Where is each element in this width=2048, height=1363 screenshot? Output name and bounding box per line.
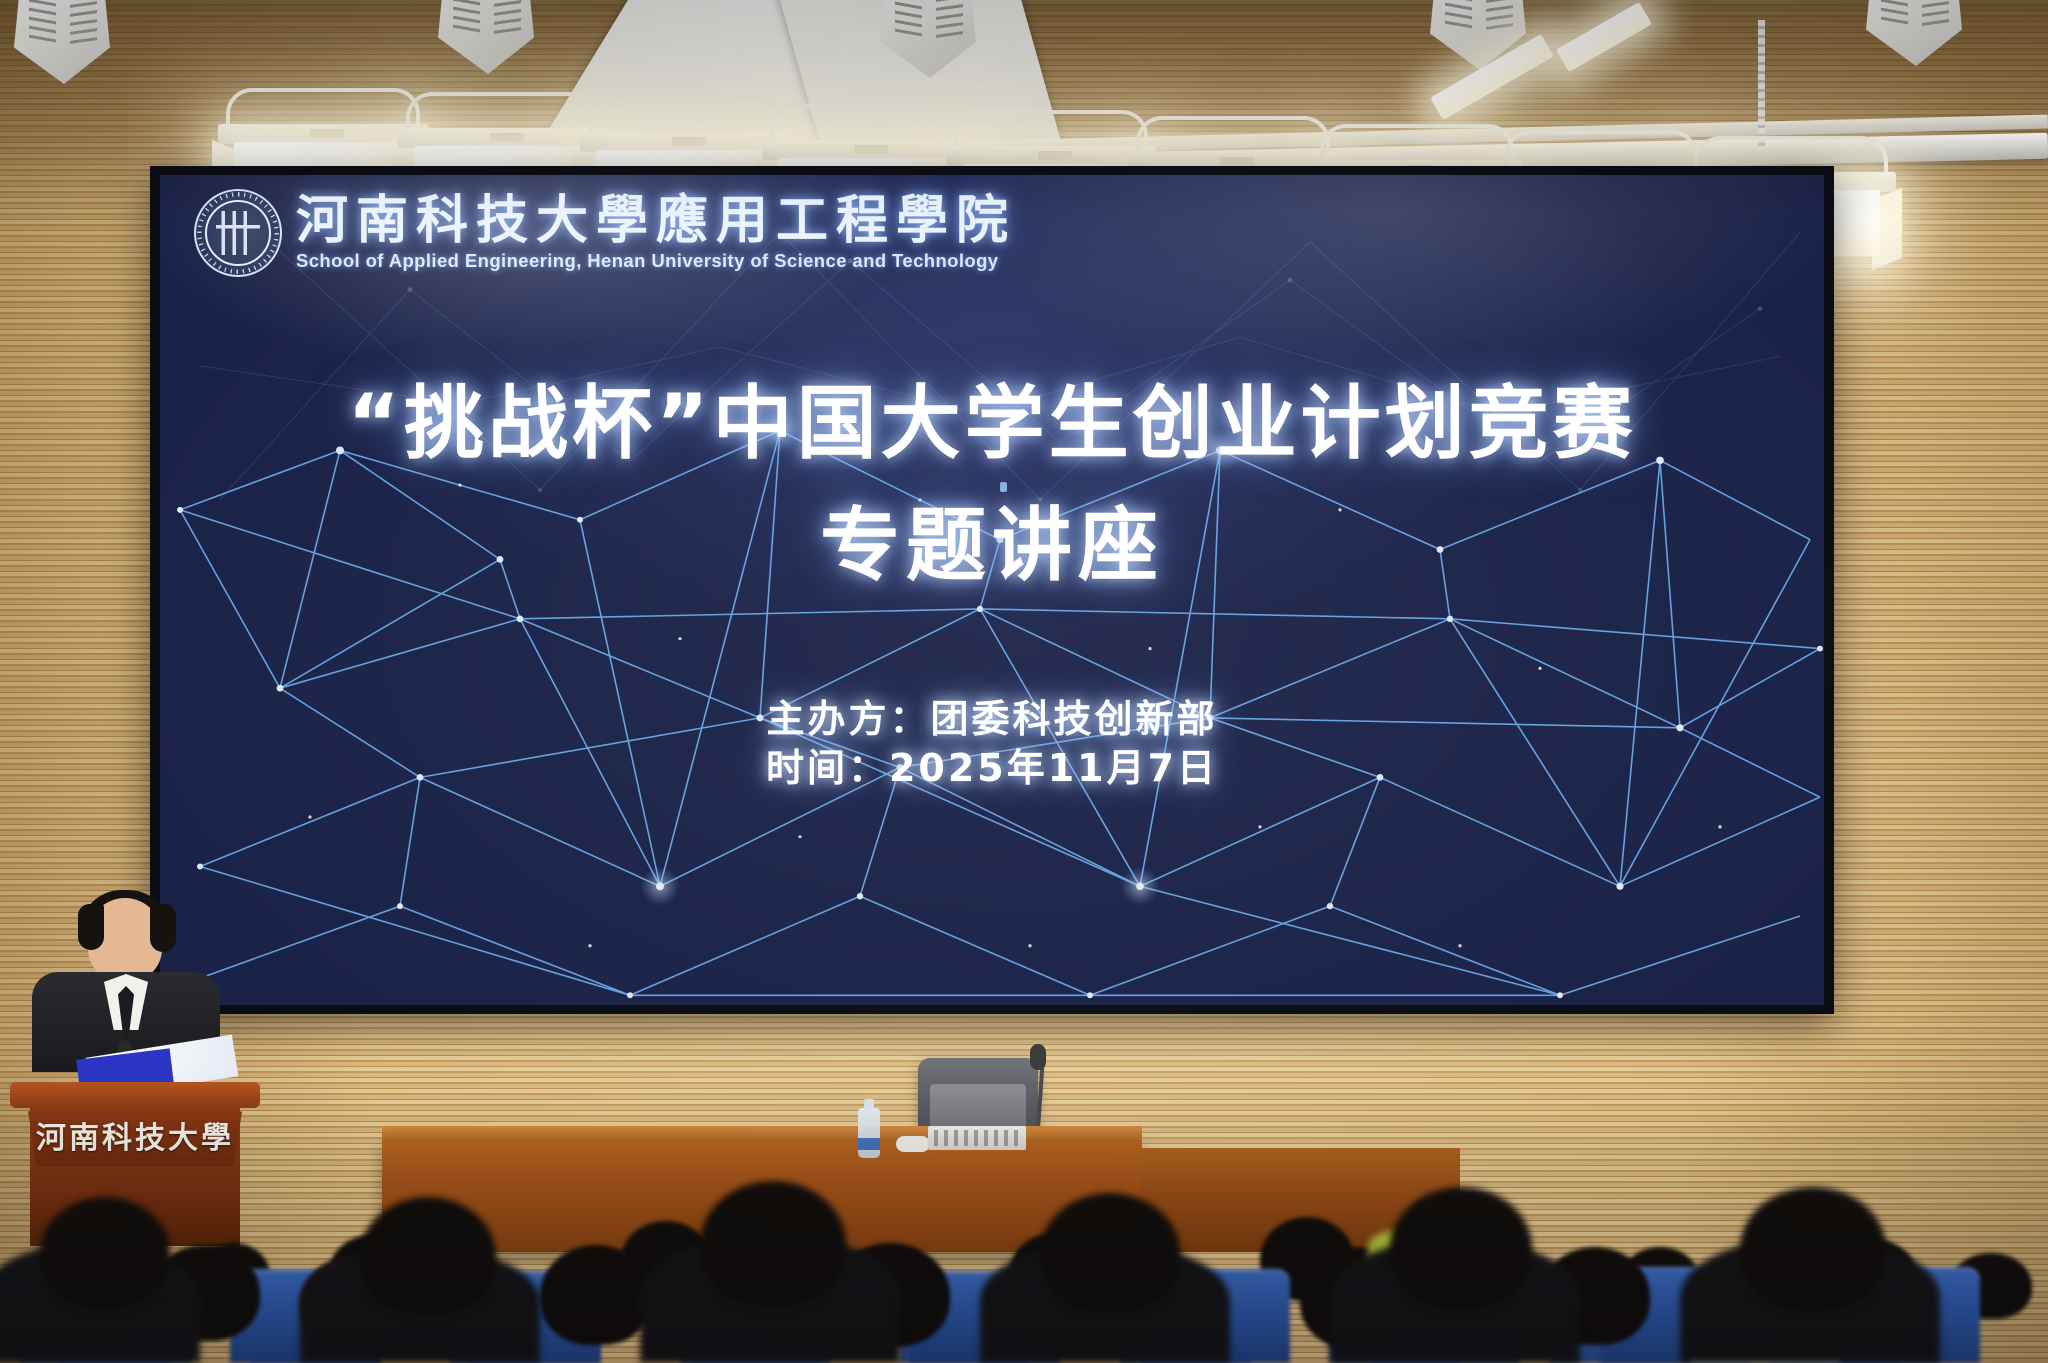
- slide-title-block: “挑战杯”中国大学生创业计划竞赛 专题讲座: [160, 380, 1824, 590]
- light-yoke: [770, 104, 964, 144]
- light-yoke: [1320, 124, 1514, 164]
- light-yoke: [954, 110, 1148, 150]
- desk-nameplate: [928, 1126, 1026, 1150]
- speaker-grill: [1881, 0, 1908, 30]
- tissue-item: [896, 1136, 930, 1152]
- seated-attendee: [1040, 1193, 1180, 1313]
- light-housing: [218, 124, 428, 144]
- light-yoke: [406, 92, 600, 132]
- slide-meta-organizer: 主办方：团委科技创新部: [160, 695, 1824, 744]
- seated-attendee: [1390, 1187, 1532, 1309]
- bottle-label: [858, 1138, 880, 1150]
- seated-attendee: [1740, 1187, 1886, 1311]
- presenter: [30, 898, 220, 1068]
- speaker-grill: [453, 0, 480, 38]
- podium-sign: 河南科技大學: [28, 1104, 242, 1166]
- led-screen-bezel: 河南科技大學應用工程學院 School of Applied Engineeri…: [150, 166, 1834, 1014]
- seated-attendee: [700, 1181, 846, 1307]
- speaker-grill: [1922, 0, 1949, 29]
- institution-name-cn: 河南科技大學應用工程學院: [296, 194, 1016, 249]
- light-yoke: [226, 88, 420, 128]
- slide-title-line-2: 专题讲座: [160, 502, 1824, 590]
- slide-meta-date: 时间：2025年11月7日: [160, 744, 1824, 793]
- speaker-grill: [1486, 0, 1513, 33]
- speaker-grill: [936, 0, 963, 41]
- hanging-chain: [1758, 20, 1765, 150]
- speaker-grill: [494, 0, 521, 37]
- institution-name-en: School of Applied Engineering, Henan Uni…: [296, 250, 1016, 272]
- speaker-grill: [70, 1, 97, 47]
- water-bottle: [858, 1108, 880, 1158]
- speaker-grill: [29, 0, 56, 48]
- podium-ledge: [10, 1082, 260, 1108]
- lecture-hall-photo: 河南科技大學應用工程學院 School of Applied Engineeri…: [0, 0, 2048, 1363]
- seated-attendee: [40, 1197, 170, 1309]
- seated-attendee: [540, 1245, 652, 1345]
- light-housing: [946, 146, 1156, 166]
- speaker-grill: [1445, 0, 1472, 34]
- seal-ring-text: [197, 192, 279, 274]
- seated-attendee: [360, 1197, 496, 1315]
- slide-meta-block: 主办方：团委科技创新部 时间：2025年11月7日: [160, 695, 1824, 792]
- university-seal-icon: [194, 189, 282, 277]
- podium-sign-text: 河南科技大學: [36, 1113, 234, 1157]
- light-housing: [398, 128, 608, 148]
- audience-area: [0, 1158, 2048, 1363]
- light-housing: [762, 140, 972, 160]
- microphone-head-icon: [1030, 1044, 1046, 1070]
- speaker-grill: [895, 0, 922, 42]
- light-yoke: [1504, 130, 1698, 170]
- light-yoke: [588, 96, 782, 136]
- led-screen: 河南科技大學應用工程學院 School of Applied Engineeri…: [160, 175, 1824, 1005]
- slide-title-line-1: “挑战杯”中国大学生创业计划竞赛: [160, 380, 1824, 468]
- slide-header: 河南科技大學應用工程學院 School of Applied Engineeri…: [194, 189, 1016, 277]
- light-housing: [580, 132, 790, 152]
- institution-block: 河南科技大學應用工程學院 School of Applied Engineeri…: [296, 194, 1016, 273]
- light-yoke: [1136, 116, 1330, 156]
- presenter-hair-side: [150, 904, 176, 952]
- presenter-hair-side: [78, 904, 104, 950]
